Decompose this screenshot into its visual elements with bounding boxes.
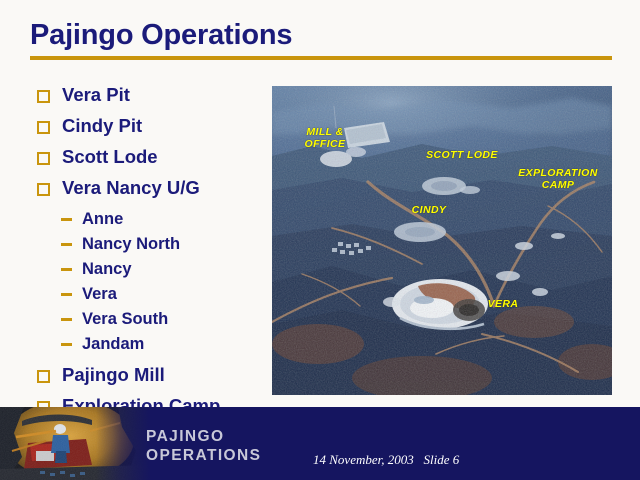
sub-list-item-label: Vera South (82, 310, 168, 328)
slide-meta-text: 14 November, 2003 Slide 6 (313, 452, 459, 468)
square-bullet-icon (37, 90, 50, 103)
footer-bar: PAJINGO OPERATIONS NEWMONT The Gold Comp… (0, 407, 640, 480)
list-item: Vera Pit (34, 84, 274, 106)
photo-label-mill-office: MILL & OFFICE (294, 126, 356, 150)
sub-list: Anne Nancy North Nancy Vera Vera South J… (34, 208, 274, 356)
sub-list-item-label: Nancy North (82, 235, 180, 253)
underground-mining-photo (0, 407, 150, 480)
slide-canvas: Pajingo Operations Vera Pit Cindy Pit Sc… (0, 0, 640, 480)
sub-list-item-label: Vera (82, 285, 117, 303)
dash-bullet-icon (61, 318, 72, 321)
sub-list-item: Anne (34, 208, 274, 231)
footer-photo-fade (96, 407, 150, 480)
photo-label-vera: VERA (480, 298, 526, 310)
square-bullet-icon (37, 370, 50, 383)
square-bullet-icon (37, 121, 50, 134)
list-item-label: Scott Lode (62, 146, 158, 167)
sub-list-item: Nancy (34, 258, 274, 281)
aerial-photo: MILL & OFFICE SCOTT LODE EXPLORATION CAM… (272, 86, 612, 395)
list-item-label: Vera Pit (62, 84, 130, 105)
list-item: Vera Nancy U/G (34, 177, 274, 199)
bullet-list: Vera Pit Cindy Pit Scott Lode Vera Nancy… (34, 84, 274, 426)
list-item: Scott Lode (34, 146, 274, 168)
dash-bullet-icon (61, 293, 72, 296)
dash-bullet-icon (61, 218, 72, 221)
dash-bullet-icon (61, 243, 72, 246)
sub-list-item-label: Jandam (82, 335, 144, 353)
dash-bullet-icon (61, 268, 72, 271)
sub-list-item-label: Nancy (82, 260, 132, 278)
list-item-label: Pajingo Mill (62, 364, 165, 385)
dash-bullet-icon (61, 343, 72, 346)
sub-list-item: Nancy North (34, 233, 274, 256)
sub-list-item: Vera (34, 283, 274, 306)
photo-label-cindy: CINDY (406, 204, 452, 216)
photo-label-exploration-camp: EXPLORATION CAMP (510, 167, 606, 191)
list-item: Pajingo Mill (34, 364, 274, 386)
title-divider (30, 56, 612, 60)
list-item: Cindy Pit (34, 115, 274, 137)
list-item-label: Cindy Pit (62, 115, 142, 136)
footer-brand-label: PAJINGO OPERATIONS (146, 427, 261, 465)
list-item-label: Vera Nancy U/G (62, 177, 200, 198)
photo-label-scott-lode: SCOTT LODE (422, 149, 502, 161)
sub-list-item: Vera South (34, 308, 274, 331)
sub-list-item-label: Anne (82, 210, 123, 228)
square-bullet-icon (37, 183, 50, 196)
square-bullet-icon (37, 152, 50, 165)
sub-list-item: Jandam (34, 333, 274, 356)
title-block: Pajingo Operations (30, 18, 612, 52)
page-title: Pajingo Operations (30, 18, 612, 52)
